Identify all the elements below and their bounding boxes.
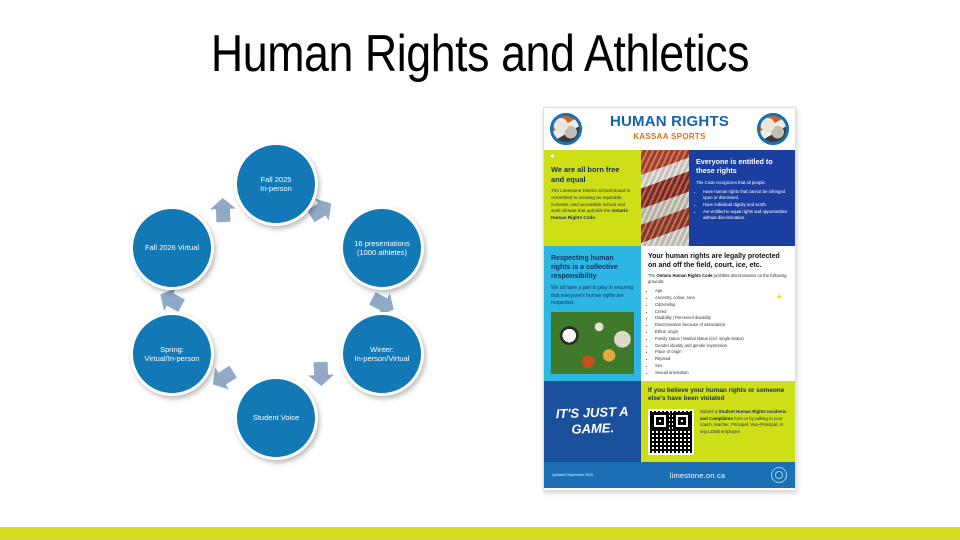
list-item: Discrimination because of association — [655, 322, 790, 329]
list-item: Gender identity and gender expression — [655, 343, 790, 350]
cycle-node-fall-2025[interactable]: Fall 2025In-person — [234, 142, 318, 226]
collective-body: We all have a part to play in ensuring t… — [551, 285, 634, 307]
poster-subtitle: KASSAA SPORTS — [544, 132, 795, 141]
qr-code[interactable] — [648, 409, 694, 455]
report-heading: If you believe your human rights or some… — [648, 387, 789, 404]
athletes-photo — [641, 150, 689, 246]
entitled-panel: Everyone is entitled to these rights The… — [689, 150, 795, 246]
poster-footer: Updated September 2025 limestone.on.ca — [544, 462, 795, 488]
entitled-intro: The Code recognizes that all people: — [696, 180, 789, 186]
sparkle-icon: ✦ — [549, 153, 556, 161]
list-item: Citizenship — [655, 302, 790, 309]
list-item: Place of origin — [655, 349, 790, 356]
poster-header: HUMAN RIGHTS KASSAA SPORTS — [544, 108, 795, 150]
list-item: Age — [655, 288, 790, 295]
poster-title: HUMAN RIGHTS — [544, 113, 795, 130]
cycle-node-label: Fall 2026 Virtual — [139, 243, 205, 252]
cycle-node-label: Spring:Virtual/In-person — [139, 345, 206, 363]
protected-intro: The Ontario Human Rights Code prohibits … — [648, 273, 790, 285]
grounds-list: Age Ancestry, colour, race Citizenship C… — [648, 288, 790, 376]
list-item: Sex — [655, 363, 790, 370]
poster-url[interactable]: limestone.on.ca — [624, 471, 771, 480]
born-free-body-tail: . — [595, 215, 596, 220]
cycle-node-label: Fall 2025In-person — [254, 175, 298, 193]
slogan-panel: IT'S JUST A GAME. — [544, 381, 641, 462]
list-item: Sexual orientation — [655, 370, 790, 377]
cycle-arrow-3 — [308, 362, 335, 387]
protected-heading: Your human rights are legally protected … — [648, 252, 790, 270]
list-item: Reprisal — [655, 356, 790, 363]
entitled-heading: Everyone is entitled to these rights — [696, 157, 789, 176]
cycle-node-fall-2026[interactable]: Fall 2026 Virtual — [130, 206, 214, 290]
protected-grounds-panel: ✦ Your human rights are legally protecte… — [641, 246, 795, 381]
poster-row-middle: Respecting human rights is a collective … — [544, 246, 795, 381]
cycle-node-spring[interactable]: Spring:Virtual/In-person — [130, 312, 214, 396]
list-item: Have human rights that cannot be infring… — [703, 189, 789, 202]
cycle-node-label: 16 presentations (1000 athletes) — [343, 239, 421, 257]
entitled-bullets: Have human rights that cannot be infring… — [696, 189, 789, 222]
list-item: Have individual dignity and worth. — [703, 202, 789, 209]
poster-row-bottom: IT'S JUST A GAME. If you believe your hu… — [544, 381, 795, 462]
human-rights-poster[interactable]: HUMAN RIGHTS KASSAA SPORTS ✦ We are all … — [543, 107, 796, 491]
list-item: Family status | Marital status (incl. si… — [655, 336, 790, 343]
born-free-body: The Limestone District School Board is c… — [551, 188, 634, 221]
born-free-heading: We are all born free and equal — [551, 165, 634, 184]
list-item: Ancestry, colour, race — [655, 295, 790, 302]
collective-heading: Respecting human rights is a collective … — [551, 254, 634, 281]
slide-canvas: Human Rights and Athletics Fall 2025In-p… — [0, 0, 960, 540]
report-body-text: Submit a — [700, 409, 719, 414]
cycle-arrow-6 — [210, 198, 237, 223]
list-item: Disability | Perceived disability — [655, 315, 790, 322]
list-item: Are entitled to equal rights and opportu… — [703, 209, 789, 222]
sports-equipment-photo — [551, 312, 634, 374]
collective-responsibility-panel: Respecting human rights is a collective … — [544, 246, 641, 381]
cycle-node-student-voice[interactable]: Student Voice — [234, 376, 318, 460]
cycle-node-label: Winter:In-person/Virtual — [349, 345, 416, 363]
list-item: Creed — [655, 309, 790, 316]
cycle-node-winter[interactable]: Winter:In-person/Virtual — [340, 312, 424, 396]
slogan-text: IT'S JUST A GAME. — [543, 404, 641, 440]
cycle-node-label: Student Voice — [247, 413, 305, 422]
report-body: Submit a Student Human Rights Incidents … — [700, 409, 789, 455]
page-title: Human Rights and Athletics — [67, 24, 893, 84]
report-panel: If you believe your human rights or some… — [641, 381, 795, 462]
accent-bar — [0, 527, 960, 540]
list-item: Ethnic origin — [655, 329, 790, 336]
protected-intro-bold: Ontario Human Rights Code — [656, 273, 712, 278]
updated-label: Updated September 2025 — [552, 473, 624, 477]
born-free-panel: ✦ We are all born free and equal The Lim… — [544, 150, 641, 246]
ldsb-logo-mark-icon — [771, 467, 787, 483]
cycle-node-presentations[interactable]: 16 presentations (1000 athletes) — [340, 206, 424, 290]
sparkle-icon: ✦ — [775, 292, 783, 303]
poster-row-top: ✦ We are all born free and equal The Lim… — [544, 150, 795, 246]
cycle-diagram: Fall 2025In-person 16 presentations (100… — [118, 140, 448, 460]
